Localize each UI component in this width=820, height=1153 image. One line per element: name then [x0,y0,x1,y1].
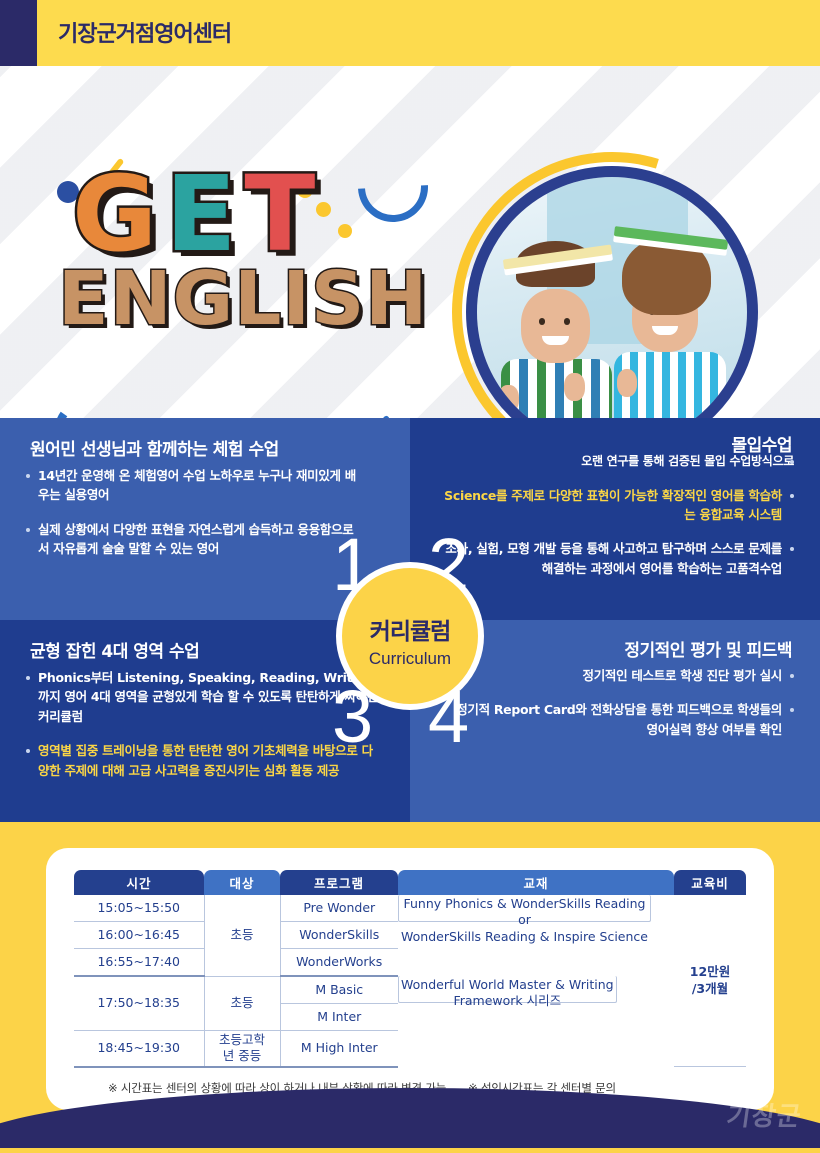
wordmark-line-english: ENGLISH [58,262,428,336]
textbook-line-2: or [401,912,648,928]
table-row: 15:05~15:50 초등 Pre Wonder Funny Phonics … [74,895,746,922]
poster-root: 기장군거점영어센터 GET ENGLISH [0,0,820,1153]
textbook-line-1: Funny Phonics & WonderSkills Reading [401,896,648,912]
curriculum-quadrant-2: 몰입수업 오랜 연구를 통해 검증된 몰입 수업방식으로 Science를 주제… [410,418,820,620]
target-line-2: 년 중등 [207,1048,278,1064]
cell-target: 초등 [204,895,280,976]
column-header-target: 대상 [204,870,280,895]
wordmark-letter-e: E [165,162,236,266]
cell-fee: 12만원 /3개월 [674,895,746,1067]
quadrant-4-bullets: 정기적인 테스트로 학생 진단 평가 실시 정기적 Report Card와 전… [454,666,794,754]
curriculum-badge-korean: 커리큘럼 [342,612,478,646]
hero-photo [466,166,758,418]
bullet-item: Science를 주제로 다양한 표현이 가능한 확장적인 영어를 학습하는 융… [444,486,794,525]
poster-header: 기장군거점영어센터 [0,0,820,66]
quadrant-3-title: 균형 잡힌 4대 영역 수업 [30,637,199,662]
cell-program: M High Inter [280,1031,398,1067]
target-line-1: 초등고학 [207,1032,278,1048]
cell-program: WonderWorks [280,949,398,977]
wordmark-letter-g2: G [173,262,235,336]
table-row: 16:55~17:40 WonderWorks [74,949,746,977]
fee-period: /3개월 [676,981,744,997]
cell-program: WonderSkills [280,922,398,949]
schedule-card: 시간 대상 프로그램 교재 교육비 15:05~15:50 초등 Pre Won… [46,848,774,1110]
cell-time: 18:45~19:30 [74,1031,204,1067]
table-row: 18:45~19:30 초등고학 년 중등 M High Inter [74,1031,746,1067]
wordmark-letter-e1: E [58,262,110,336]
quadrant-2-bullets: 오랜 연구를 통해 검증된 몰입 수업방식으로 Science를 주제로 다양한… [444,452,794,593]
header-navy-block [0,0,37,66]
quadrant-1-title: 원어민 선생님과 함께하는 체험 수업 [30,435,279,460]
bullet-item: 실제 상황에서 다양한 표현을 자연스럽게 습득하고 응용함으로서 자유롭게 술… [26,520,356,559]
quadrant-1-bullets: 14년간 운영해 온 체험영어 수업 노하우로 누구나 재미있게 배우는 실용영… [26,466,356,574]
column-header-time: 시간 [74,870,204,895]
cell-time: 16:55~17:40 [74,949,204,977]
wordmark-letter-i: I [282,262,311,336]
bullet-item: 오랜 연구를 통해 검증된 몰입 수업방식으로 [444,452,794,471]
textbook-line-3: WonderSkills Reading & Inspire Science [401,929,648,945]
cell-program: Pre Wonder [280,895,398,922]
table-header-row: 시간 대상 프로그램 교재 교육비 [74,870,746,895]
cell-program: M Basic [280,976,398,1004]
wordmark-letter-n: N [110,262,173,336]
watermark-logo: 기장군 [725,1096,805,1133]
textbook-line-2: Framework 시리즈 [401,993,614,1009]
bullet-item: 영역별 집중 트레이닝을 통한 탄탄한 영어 기초체력을 바탕으로 다양한 주제… [26,741,384,780]
cell-textbook: Wonderful World Master & Writing Framewo… [398,976,617,1003]
center-name-title: 기장군거점영어센터 [58,16,231,48]
textbook-line-1: Wonderful World Master & Writing [401,977,614,993]
wordmark-letter-h: H [365,262,428,336]
cell-program: M Inter [280,1004,398,1031]
curriculum-badge: 커리큘럼 Curriculum [336,562,484,710]
wordmark-letter-l: L [234,262,282,336]
quadrant-3-bullets: Phonics부터 Listening, Speaking, Reading, … [26,668,384,795]
cell-time: 15:05~15:50 [74,895,204,922]
schedule-table: 시간 대상 프로그램 교재 교육비 15:05~15:50 초등 Pre Won… [74,870,746,1068]
bullet-item: Phonics부터 Listening, Speaking, Reading, … [26,668,384,726]
cell-target: 초등 [204,976,280,1031]
bullet-item: 14년간 운영해 온 체험영어 수업 노하우로 누구나 재미있게 배우는 실용영… [26,466,356,505]
column-header-program: 프로그램 [280,870,398,895]
cell-textbook: Funny Phonics & WonderSkills Reading or … [398,895,651,922]
cell-time: 17:50~18:35 [74,976,204,1031]
quadrant-4-title: 정기적인 평가 및 피드백 [624,636,792,661]
cell-target: 초등고학 년 중등 [204,1031,280,1067]
wordmark-line-get: GET [72,162,323,266]
bullet-item: 조사, 실험, 모형 개발 등을 통해 사고하고 탐구하며 스스로 문제를 해결… [444,539,794,578]
wordmark-letter-t: T [244,162,315,266]
bullet-item: 정기적인 테스트로 학생 진단 평가 실시 [454,666,794,685]
cell-time: 16:00~16:45 [74,922,204,949]
curriculum-badge-english: Curriculum [342,649,478,669]
fee-amount: 12만원 [676,964,744,980]
column-header-textbook: 교재 [398,870,674,895]
get-english-wordmark: GET ENGLISH [0,66,470,418]
table-row: 17:50~18:35 초등 M Basic Wonderful World M… [74,976,746,1004]
wordmark-letter-g: G [72,162,157,266]
wordmark-letter-s: S [311,262,365,336]
bullet-item: 정기적 Report Card와 전화상담을 통한 피드백으로 학생들의 영어실… [454,700,794,739]
hero-section: GET ENGLISH [0,66,820,418]
column-header-fee: 교육비 [674,870,746,895]
